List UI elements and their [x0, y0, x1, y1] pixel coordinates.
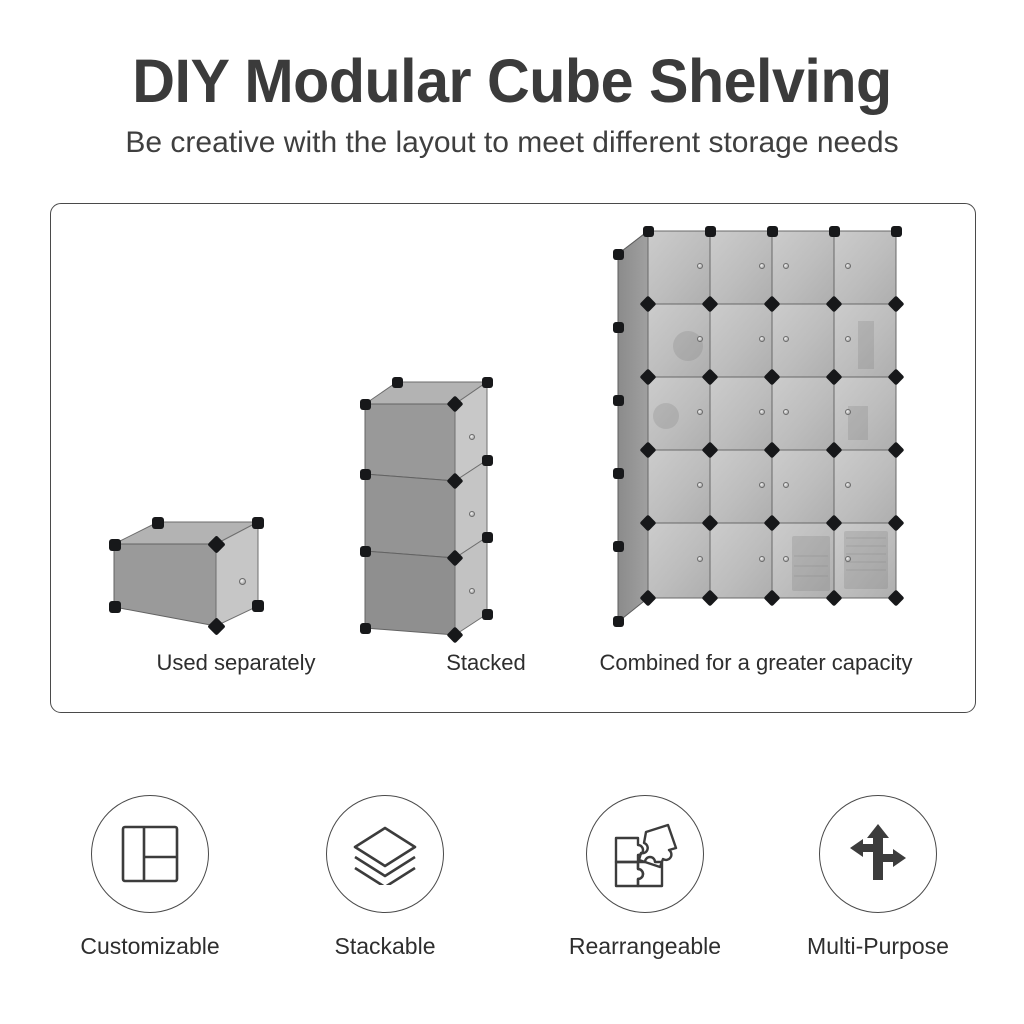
feature-label: Customizable: [50, 933, 250, 960]
corner-connector: [613, 395, 624, 406]
corner-connector: [360, 399, 371, 410]
corner-connector: [613, 541, 624, 552]
combined-grid-geometry: [596, 226, 911, 641]
cube-door-handle: [469, 511, 475, 517]
corner-connector: [109, 539, 121, 551]
corner-connector: [392, 377, 403, 388]
corner-connector: [482, 377, 493, 388]
feature-circle: [326, 795, 444, 913]
cube-door-handle: [697, 263, 703, 269]
three-way-arrow-icon: [845, 821, 911, 887]
grid-layout-icon: [119, 823, 181, 885]
feature-rearrangeable: Rearrangeable: [545, 795, 745, 960]
cube-door-handle: [845, 556, 851, 562]
feature-multi-purpose: Multi-Purpose: [778, 795, 978, 960]
corner-connector: [613, 468, 624, 479]
cube-door-handle: [783, 409, 789, 415]
corner-connector: [705, 226, 716, 237]
product-combined-grid: [596, 226, 911, 641]
corner-connector: [252, 600, 264, 612]
feature-label: Stackable: [285, 933, 485, 960]
cube-door-handle: [759, 263, 765, 269]
cube-door-handle: [783, 556, 789, 562]
feature-circle: [819, 795, 937, 913]
page-title: DIY Modular Cube Shelving: [15, 46, 1008, 116]
cube-door-handle: [759, 409, 765, 415]
cube-door-handle: [783, 263, 789, 269]
corner-connector: [482, 532, 493, 543]
single-cube-geometry: [106, 514, 266, 639]
cube-door-handle: [697, 556, 703, 562]
corner-connector: [613, 322, 624, 333]
corner-connector: [891, 226, 902, 237]
feature-circle: [91, 795, 209, 913]
cube-door-handle: [697, 409, 703, 415]
stacked-tower-geometry: [359, 376, 499, 641]
cube-door-handle: [469, 434, 475, 440]
corner-connector: [767, 226, 778, 237]
corner-connector: [643, 226, 654, 237]
feature-label: Rearrangeable: [545, 933, 745, 960]
showcase-card: Used separately Stacked Combined for a g…: [50, 203, 976, 713]
cube-door-handle: [239, 578, 246, 585]
cube-door-handle: [845, 263, 851, 269]
corner-connector: [360, 469, 371, 480]
feature-customizable: Customizable: [50, 795, 250, 960]
corner-connector: [482, 609, 493, 620]
showcase-caption-combined: Combined for a greater capacity: [521, 650, 991, 676]
cube-door-handle: [759, 556, 765, 562]
feature-circle: [586, 795, 704, 913]
corner-connector: [360, 546, 371, 557]
corner-connector: [829, 226, 840, 237]
corner-connector: [152, 517, 164, 529]
cube-door-handle: [759, 482, 765, 488]
cube-door-handle: [845, 409, 851, 415]
cube-door-handle: [697, 482, 703, 488]
cube-door-handle: [469, 588, 475, 594]
cube-door-handle: [783, 336, 789, 342]
corner-connector: [482, 455, 493, 466]
page-subtitle: Be creative with the layout to meet diff…: [0, 126, 1024, 160]
infographic-page: DIY Modular Cube Shelving Be creative wi…: [0, 0, 1024, 1024]
corner-connector: [360, 623, 371, 634]
puzzle-pieces-icon: [610, 820, 680, 888]
corner-connector: [252, 517, 264, 529]
product-stacked-tower: [359, 376, 499, 641]
showcase-stage: Used separately Stacked Combined for a g…: [51, 204, 975, 712]
corner-connector: [613, 616, 624, 627]
cube-door-handle: [759, 336, 765, 342]
corner-connector: [613, 249, 624, 260]
showcase-caption-used-separately: Used separately: [91, 650, 381, 676]
stacked-layers-icon: [351, 823, 419, 885]
cube-door-handle: [845, 336, 851, 342]
cube-door-handle: [697, 336, 703, 342]
cube-door-handle: [845, 482, 851, 488]
feature-stackable: Stackable: [285, 795, 485, 960]
cube-door-handle: [783, 482, 789, 488]
product-single-cube: [106, 514, 266, 639]
corner-connector: [109, 601, 121, 613]
feature-label: Multi-Purpose: [778, 933, 978, 960]
